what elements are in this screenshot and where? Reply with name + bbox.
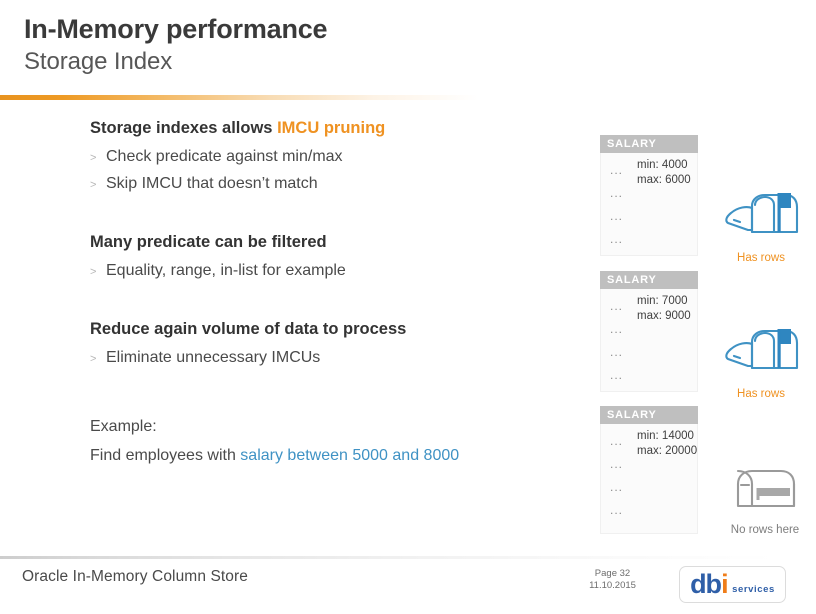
content-section-2: Many predicate can be filtered > Equalit… (90, 230, 570, 285)
imcu-2-result: Has rows (706, 328, 816, 402)
section-2-heading: Many predicate can be filtered (90, 230, 570, 254)
imcu-2-minmax: min: 7000 max: 9000 (637, 294, 691, 324)
imcu-2-min: min: 7000 (637, 294, 691, 309)
footer-title: Oracle In-Memory Column Store (22, 568, 248, 586)
imcu-3-column-header: SALARY (600, 406, 698, 424)
content-section-3: Reduce again volume of data to process >… (90, 317, 570, 372)
list-item: > Skip IMCU that doesn’t match (90, 171, 570, 198)
page-title: In-Memory performance Storage Index (24, 12, 327, 77)
page-number: Page 32 (560, 568, 665, 580)
imcu-3-result: No rows here (710, 466, 816, 538)
section-1-heading-accent: IMCU pruning (277, 119, 385, 137)
chevron-right-icon: > (90, 259, 106, 285)
chevron-right-icon: > (90, 145, 106, 171)
imcu-2-max: max: 9000 (637, 309, 691, 324)
chevron-right-icon: > (90, 172, 106, 198)
imcu-row: ... (610, 476, 697, 499)
footer-divider (0, 556, 816, 559)
logo-i-text: i (721, 571, 728, 598)
list-item: > Eliminate unnecessary IMCUs (90, 345, 570, 372)
bullet-text: Eliminate unnecessary IMCUs (106, 345, 320, 371)
example-sentence: Find employees with salary between 5000 … (90, 441, 570, 470)
imcu-row: ... (610, 341, 697, 364)
imcu-1-max: max: 6000 (637, 173, 691, 188)
title-underline-rule (0, 95, 520, 100)
mailbox-flag-pole (778, 329, 781, 368)
imcu-panel-3: SALARY ... ... ... ... min: 14000 max: 2… (600, 406, 698, 534)
example-sentence-accent: salary between 5000 and 8000 (240, 447, 459, 464)
imcu-row: ... (610, 228, 697, 251)
slide-date: 11.10.2015 (560, 580, 665, 592)
section-spacer (90, 216, 570, 230)
bullet-text: Check predicate against min/max (106, 144, 343, 170)
mailbox-flag-pole (778, 193, 781, 232)
section-3-heading: Reduce again volume of data to process (90, 317, 570, 341)
imcu-1-result-label: Has rows (706, 251, 816, 266)
mailbox-closed-icon (728, 466, 802, 516)
imcu-3-minmax: min: 14000 max: 20000 (637, 429, 697, 459)
imcu-2-body: ... ... ... ... min: 7000 max: 9000 (600, 289, 698, 392)
imcu-panel-1: SALARY ... ... ... ... min: 4000 max: 60… (600, 135, 698, 256)
example-block: Example: Find employees with salary betw… (90, 412, 570, 470)
logo-db-text: db (690, 571, 721, 598)
bullet-text: Equality, range, in-list for example (106, 258, 346, 284)
mailbox-open-icon (722, 192, 800, 244)
section-1-heading: Storage indexes allows IMCU pruning (90, 116, 570, 140)
imcu-1-result: Has rows (706, 192, 816, 266)
example-sentence-plain: Find employees with (90, 447, 240, 464)
example-spacer (90, 390, 570, 412)
bullet-text: Skip IMCU that doesn’t match (106, 171, 318, 197)
section-spacer (90, 303, 570, 317)
imcu-2-column-header: SALARY (600, 271, 698, 289)
content-section-1: Storage indexes allows IMCU pruning > Ch… (90, 116, 570, 198)
mailbox-flag (780, 193, 791, 208)
mailbox-flag-down (758, 488, 790, 496)
slide-canvas: In-Memory performance Storage Index Stor… (0, 0, 816, 614)
imcu-3-body: ... ... ... ... min: 14000 max: 20000 (600, 424, 698, 534)
imcu-row: ... (610, 364, 697, 387)
imcu-3-result-label: No rows here (710, 523, 816, 538)
imcu-1-body: ... ... ... ... min: 4000 max: 6000 (600, 153, 698, 256)
chevron-right-icon: > (90, 346, 106, 372)
imcu-1-min: min: 4000 (637, 158, 691, 173)
footer-meta: Page 32 11.10.2015 (560, 568, 665, 592)
mailbox-flag (780, 329, 791, 344)
logo-services-text: services (732, 584, 775, 595)
content-column: Storage indexes allows IMCU pruning > Ch… (90, 116, 570, 470)
section-1-heading-plain: Storage indexes allows (90, 119, 277, 137)
imcu-row: ... (610, 499, 697, 522)
mailbox-open-icon (722, 328, 800, 380)
imcu-row: ... (610, 205, 697, 228)
list-item: > Check predicate against min/max (90, 144, 570, 171)
imcu-2-result-label: Has rows (706, 387, 816, 402)
list-item: > Equality, range, in-list for example (90, 258, 570, 285)
imcu-1-minmax: min: 4000 max: 6000 (637, 158, 691, 188)
title-main: In-Memory performance (24, 12, 327, 46)
imcu-3-max: max: 20000 (637, 444, 697, 459)
imcu-panel-2: SALARY ... ... ... ... min: 7000 max: 90… (600, 271, 698, 392)
dbi-services-logo: dbiservices (679, 566, 786, 603)
imcu-3-min: min: 14000 (637, 429, 697, 444)
title-subtitle: Storage Index (24, 46, 327, 77)
imcu-1-column-header: SALARY (600, 135, 698, 153)
example-label: Example: (90, 412, 570, 441)
